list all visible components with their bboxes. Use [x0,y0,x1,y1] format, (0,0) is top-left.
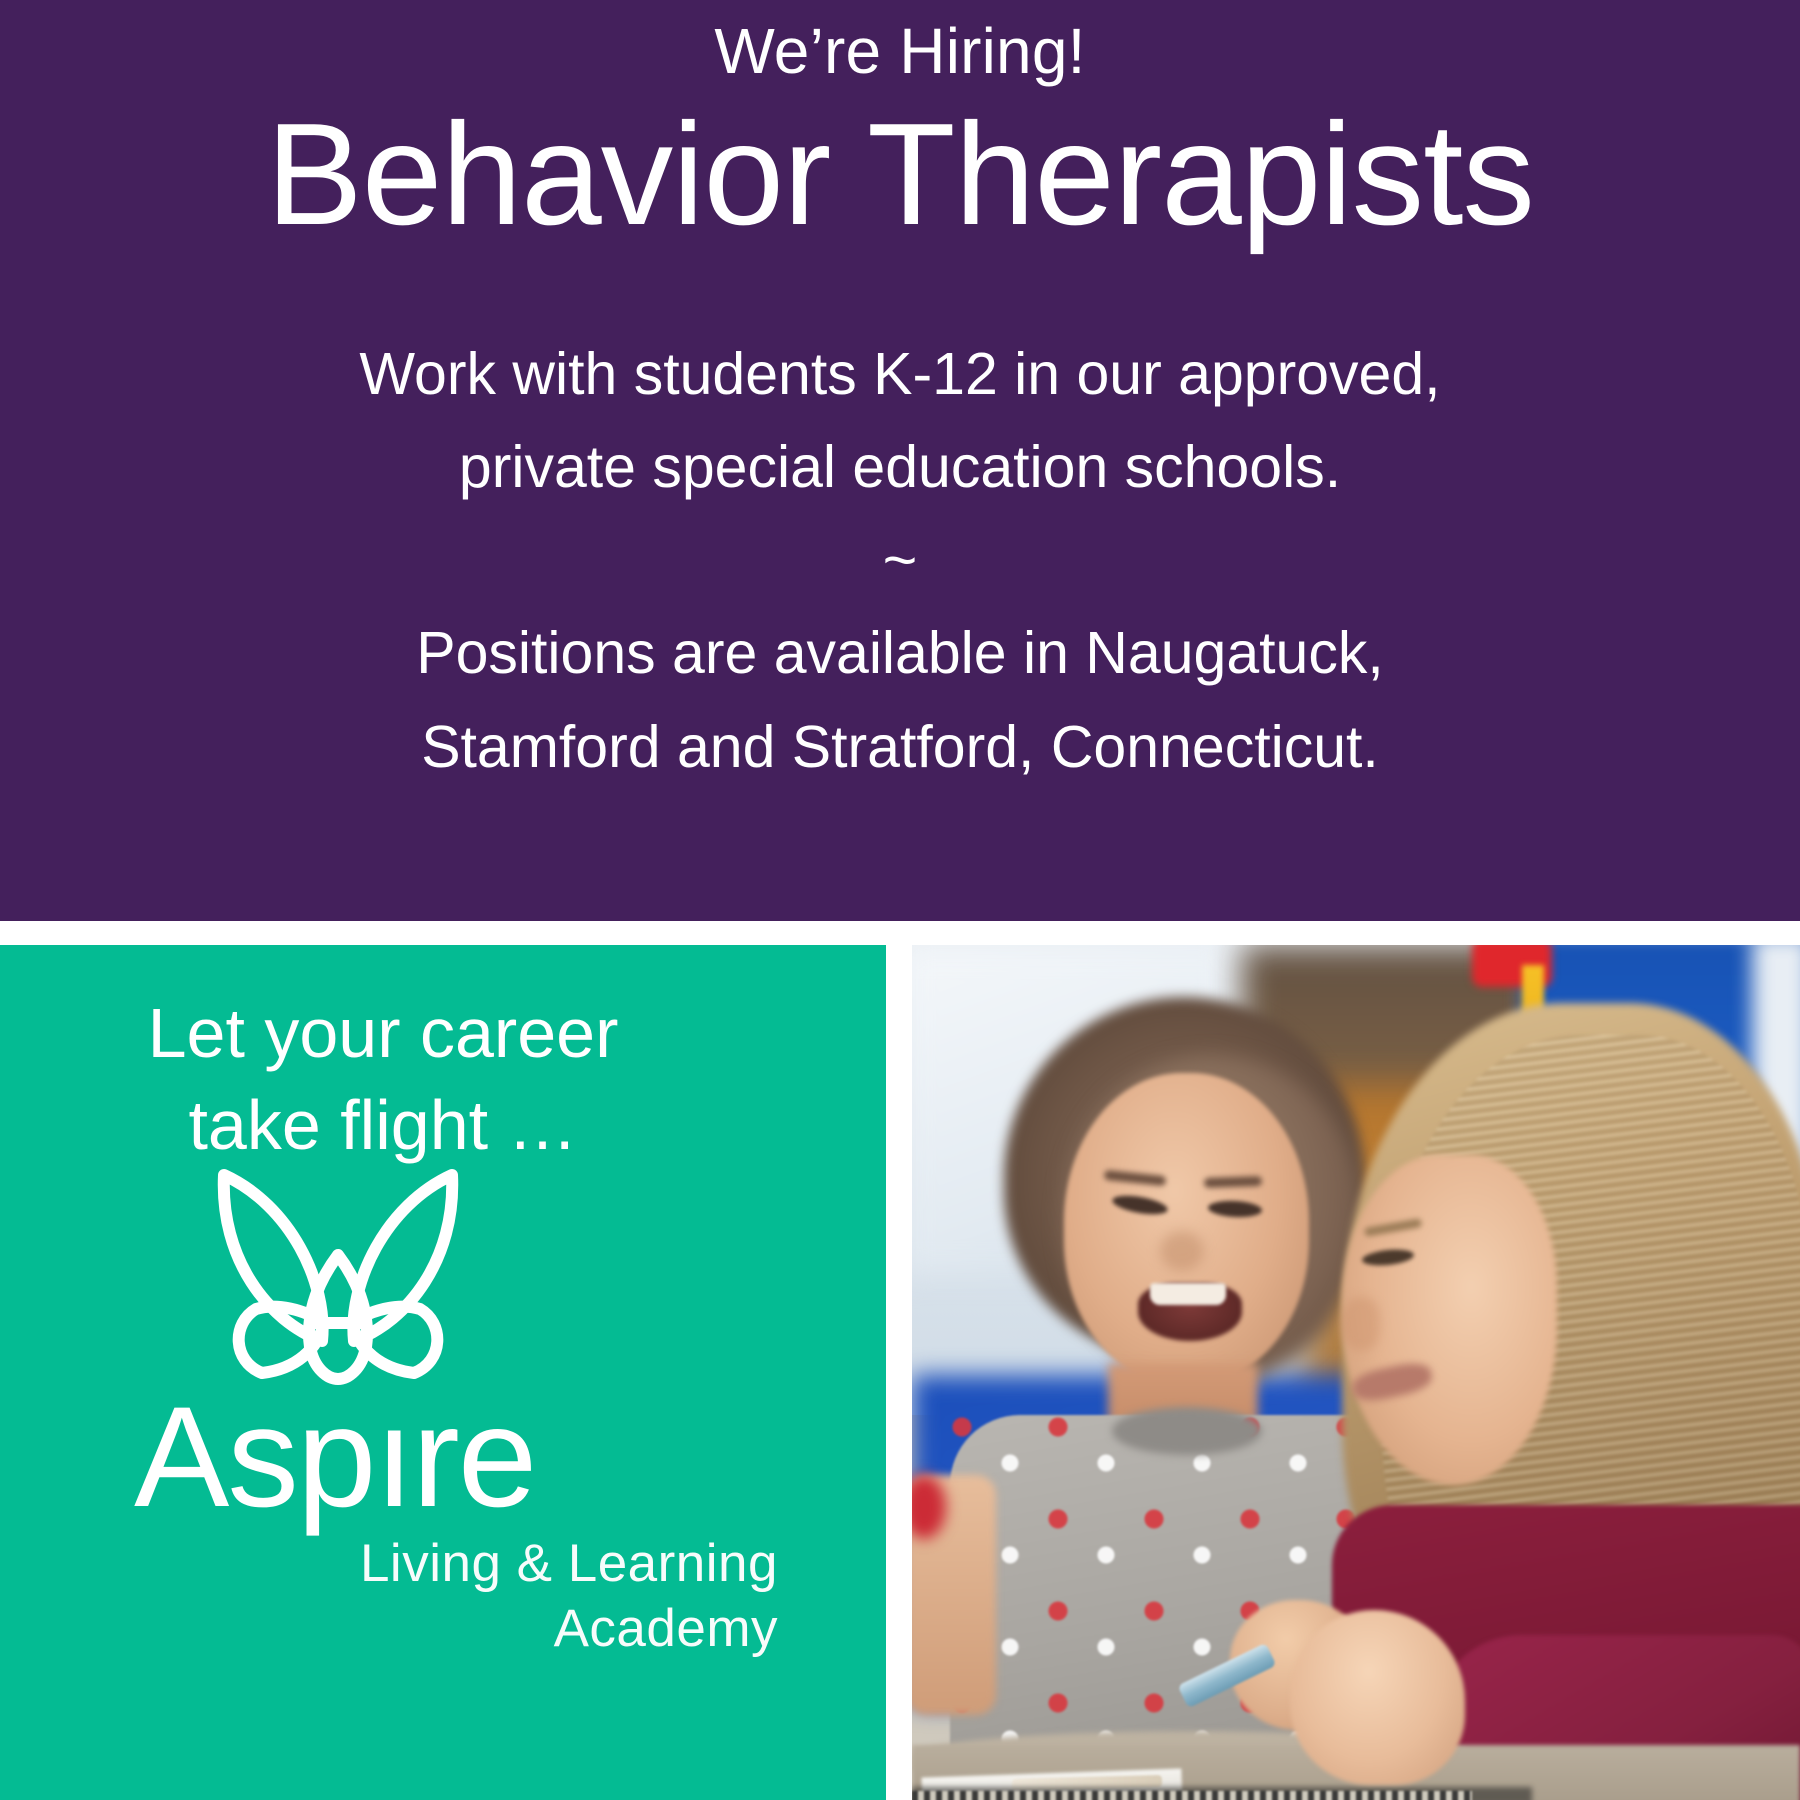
student-brow-right [1204,1176,1262,1188]
hero-panel: We’re Hiring! Behavior Therapists Work w… [0,0,1800,921]
butterfly-icon [210,1163,466,1385]
hero-body: Work with students K-12 in our approved,… [150,328,1650,794]
therapist-hand [1290,1610,1465,1785]
brand-subtitle-line-2: Academy [126,1597,778,1662]
tagline-line-1: Let your career [0,987,766,1079]
page-title: Behavior Therapists [150,98,1650,250]
tagline: Let your career take flight … [0,987,886,1172]
hiring-eyebrow: We’re Hiring! [150,14,1650,90]
tagline-line-2: take flight … [0,1079,766,1171]
tilde-separator: ~ [150,514,1650,607]
hero-location-line-1: Positions are available in Naugatuck, [150,607,1650,700]
brand-subtitle-line-1: Living & Learning [126,1532,778,1597]
bottom-row: Let your career take flight … [0,945,1800,1800]
aspire-wordmark: Aspıre [126,1389,786,1526]
student-shirt-collar [1112,1407,1262,1455]
recruitment-poster: We’re Hiring! Behavior Therapists Work w… [0,0,1800,1800]
hero-body-line-1: Work with students K-12 in our approved, [150,328,1650,421]
classroom-photo [912,945,1800,1800]
aspire-logo-lockup: Aspıre Living & Learning Academy [126,1163,786,1662]
brand-panel: Let your career take flight … [0,945,886,1800]
hero-location-line-2: Stamford and Stratford, Connecticut. [150,701,1650,794]
brand-subtitle: Living & Learning Academy [126,1532,786,1661]
therapist-nose [1340,1297,1380,1351]
student-teeth [1150,1283,1226,1305]
student-nose [1160,1231,1204,1271]
hero-body-line-2: private special education schools. [150,421,1650,514]
spiral-binder [912,1791,1472,1800]
